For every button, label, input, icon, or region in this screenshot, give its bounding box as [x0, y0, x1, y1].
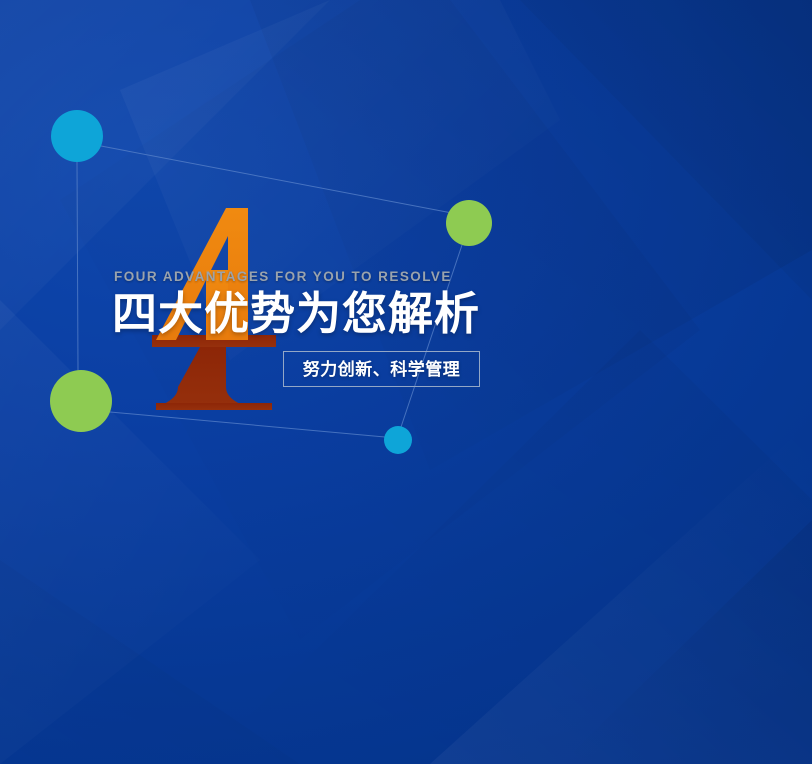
tagline-box: 努力创新、科学管理 — [283, 351, 480, 387]
center-composition: FOUR ADVANTAGES FOR YOU TO RESOLVE 四大优势为… — [0, 0, 812, 764]
eyebrow-text: FOUR ADVANTAGES FOR YOU TO RESOLVE — [114, 270, 512, 284]
page-title: 四大优势为您解析 — [112, 290, 512, 338]
banner-slide: FOUR ADVANTAGES FOR YOU TO RESOLVE 四大优势为… — [0, 0, 812, 764]
tagline-text: 努力创新、科学管理 — [303, 361, 461, 378]
headline-block: FOUR ADVANTAGES FOR YOU TO RESOLVE 四大优势为… — [112, 270, 512, 337]
decor-pedestal — [152, 335, 276, 410]
